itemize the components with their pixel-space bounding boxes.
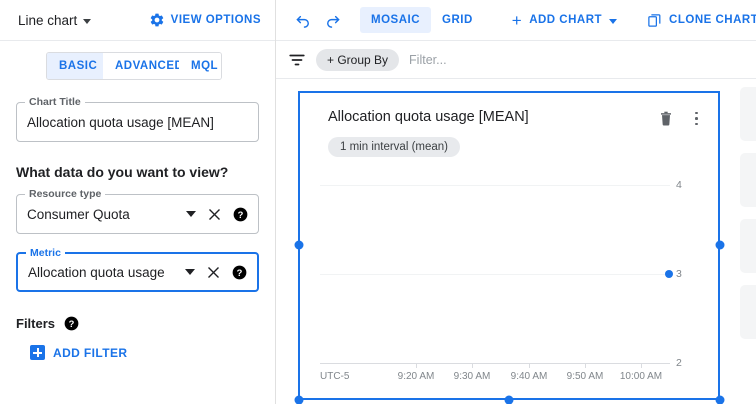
clear-icon[interactable] (206, 265, 221, 280)
clone-chart-label: CLONE CHART (669, 14, 756, 26)
sidebar-cutoff-row (16, 395, 259, 404)
cutoff-text-1 (46, 395, 49, 400)
view-options-button[interactable]: VIEW OPTIONS (149, 12, 261, 28)
x-axis-line (320, 363, 670, 364)
clone-chart-button[interactable]: CLONE CHART (641, 7, 756, 34)
tab-basic[interactable]: BASIC (47, 53, 103, 79)
x-tick-label-2: 9:30 AM (454, 371, 491, 382)
charts-canvas: Allocation quota usage [MEAN] 1 min inte… (276, 79, 756, 404)
data-section-heading: What data do you want to view? (16, 164, 259, 180)
plus-icon: + (512, 15, 522, 26)
group-filter-bar: + Group By Filter... (276, 41, 756, 79)
y-tick-label-4: 4 (676, 179, 682, 191)
resource-type-label: Resource type (25, 188, 105, 200)
add-chart-label: ADD CHART (529, 14, 602, 26)
tab-advanced[interactable]: ADVANCED (103, 53, 179, 79)
x-tick-mark-4 (585, 363, 586, 368)
clear-icon[interactable] (207, 207, 222, 222)
x-tick-mark-3 (529, 363, 530, 368)
collapsed-panel-2[interactable] (740, 153, 756, 207)
sidebar-header: Line chart VIEW OPTIONS (0, 0, 275, 41)
metric-input[interactable]: Allocation quota usage (28, 265, 179, 280)
plus-icon (30, 345, 45, 360)
grid-label: GRID (442, 14, 473, 26)
chevron-down-icon[interactable] (186, 211, 196, 217)
layout-mode-grid[interactable]: GRID (431, 7, 484, 33)
view-options-label: VIEW OPTIONS (171, 14, 261, 26)
mosaic-label: MOSAIC (371, 14, 420, 26)
x-tick-label-4: 9:50 AM (567, 371, 604, 382)
help-icon[interactable]: ? (233, 207, 248, 222)
svg-text:?: ? (69, 319, 75, 329)
filters-section: Filters ? (16, 316, 259, 331)
add-chart-button[interactable]: + ADD CHART (506, 8, 623, 32)
redo-button[interactable] (318, 5, 348, 35)
filter-lines-icon[interactable] (288, 51, 306, 69)
chart-title-input[interactable]: Allocation quota usage [MEAN] (27, 115, 248, 130)
metric-label: Metric (26, 247, 65, 259)
chart-title-label: Chart Title (25, 96, 85, 108)
filter-input-placeholder: Filter... (409, 53, 447, 67)
chevron-down-icon (83, 19, 91, 24)
resize-handle-bottom-left[interactable] (295, 396, 304, 404)
resource-type-field[interactable]: Resource type Consumer Quota ? (16, 194, 259, 234)
resize-handle-bottom[interactable] (505, 396, 514, 404)
trash-icon[interactable] (658, 110, 674, 127)
chart-plot-area: 4 3 2 9:20 AM 9:30 AM 9:40 AM (300, 155, 718, 398)
y-tick-label-2: 2 (676, 357, 682, 369)
dashboard-toolbar: MOSAIC GRID + ADD CHART CLONE CHART (276, 0, 756, 41)
layout-mode-mosaic[interactable]: MOSAIC (360, 7, 431, 33)
group-by-chip[interactable]: + Group By (316, 49, 399, 71)
chart-card-actions (658, 110, 704, 127)
redo-icon (324, 11, 342, 29)
resize-handle-left[interactable] (295, 241, 304, 250)
group-by-label: + Group By (327, 53, 388, 67)
x-tick-mark-2 (472, 363, 473, 368)
undo-icon (294, 11, 312, 29)
chevron-down-icon (609, 19, 617, 24)
x-tick-mark-5 (641, 363, 642, 368)
metric-field[interactable]: Metric Allocation quota usage ? (16, 252, 259, 292)
cutoff-text-2 (226, 395, 229, 400)
chart-card[interactable]: Allocation quota usage [MEAN] 1 min inte… (298, 91, 720, 400)
x-tick-label-5: 10:00 AM (620, 371, 662, 382)
resource-type-input[interactable]: Consumer Quota (27, 207, 180, 222)
timezone-label: UTC-5 (320, 371, 349, 382)
x-tick-label-3: 9:40 AM (511, 371, 548, 382)
collapsed-panel-4[interactable] (740, 285, 756, 339)
chart-type-label: Line chart (18, 13, 77, 28)
tab-advanced-label: ADVANCED (115, 60, 183, 72)
x-tick-mark-1 (416, 363, 417, 368)
x-tick-label-1: 9:20 AM (398, 371, 435, 382)
more-vert-icon[interactable] (688, 111, 704, 127)
config-tabs: BASIC ADVANCED MQL (46, 52, 222, 80)
interval-chip: 1 min interval (mean) (328, 137, 460, 157)
help-icon[interactable]: ? (64, 316, 79, 331)
tab-mql-label: MQL (191, 60, 218, 72)
svg-text:?: ? (237, 267, 243, 277)
resize-handle-bottom-right[interactable] (716, 396, 725, 404)
y-tick-label-3: 3 (676, 268, 682, 280)
filters-label: Filters (16, 316, 55, 331)
chart-card-title: Allocation quota usage [MEAN] (328, 109, 658, 125)
chart-config-sidebar: Line chart VIEW OPTIONS BASIC ADVANCED M… (0, 0, 276, 404)
tab-basic-label: BASIC (59, 60, 97, 72)
tab-mql[interactable]: MQL (179, 53, 222, 79)
data-point (665, 270, 673, 278)
help-icon[interactable]: ? (232, 265, 247, 280)
chart-type-dropdown[interactable]: Line chart (18, 13, 91, 28)
chart-editor-app: Line chart VIEW OPTIONS BASIC ADVANCED M… (0, 0, 756, 404)
collapsed-panel-1[interactable] (740, 87, 756, 141)
chart-card-header: Allocation quota usage [MEAN] (300, 93, 718, 127)
metric-icons: ? (185, 265, 247, 280)
svg-text:?: ? (238, 209, 244, 219)
chart-title-field[interactable]: Chart Title Allocation quota usage [MEAN… (16, 102, 259, 142)
copy-icon (647, 13, 662, 28)
chevron-down-icon[interactable] (185, 269, 195, 275)
resize-handle-right[interactable] (716, 241, 725, 250)
gridline-4 (320, 185, 670, 186)
filter-input[interactable]: Filter... (409, 53, 447, 67)
gridline-3 (320, 274, 670, 275)
dashboard-main: MOSAIC GRID + ADD CHART CLONE CHART (276, 0, 756, 404)
resource-type-icons: ? (186, 207, 248, 222)
add-filter-button[interactable]: ADD FILTER (30, 345, 259, 360)
gear-icon (149, 12, 165, 28)
collapsed-panel-3[interactable] (740, 219, 756, 273)
undo-button[interactable] (288, 5, 318, 35)
add-filter-label: ADD FILTER (53, 346, 127, 360)
